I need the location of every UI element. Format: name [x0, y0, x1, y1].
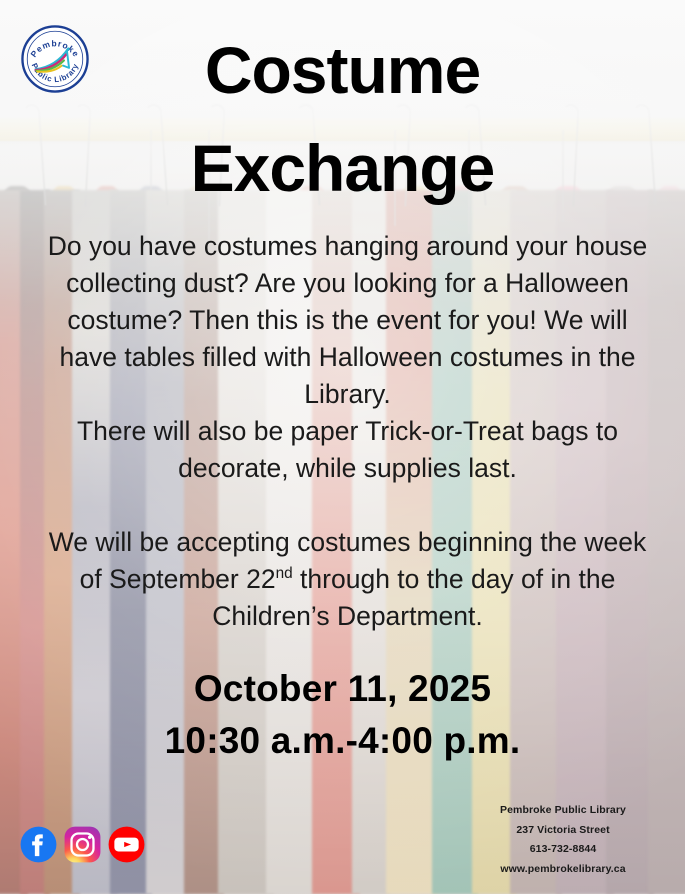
body-paragraph-2: There will also be paper Trick-or-Treat …: [38, 413, 657, 487]
facebook-icon[interactable]: [20, 826, 57, 863]
title-line-2: Exchange: [0, 120, 685, 218]
footer-address: 237 Victoria Street: [463, 821, 663, 841]
poster-body: Do you have costumes hanging around your…: [38, 228, 657, 635]
poster: Pembroke Public Library Costume Exchange: [0, 0, 685, 894]
paragraph-spacer: [38, 487, 657, 524]
footer-website[interactable]: www.pembrokelibrary.ca: [463, 860, 663, 880]
poster-title: Costume Exchange: [0, 22, 685, 217]
ordinal-suffix: nd: [276, 565, 293, 582]
footer-library-name: Pembroke Public Library: [463, 801, 663, 821]
event-datetime: October 11, 2025 10:30 a.m.-4:00 p.m.: [0, 663, 685, 767]
youtube-icon[interactable]: [108, 826, 145, 863]
footer-phone[interactable]: 613-732-8844: [463, 840, 663, 860]
social-links: [20, 826, 145, 863]
instagram-icon[interactable]: [64, 826, 101, 863]
footer-contact: Pembroke Public Library 237 Victoria Str…: [463, 801, 663, 879]
event-time: 10:30 a.m.-4:00 p.m.: [0, 715, 685, 767]
body-paragraph-1: Do you have costumes hanging around your…: [38, 228, 657, 413]
title-line-1: Costume: [0, 22, 685, 120]
event-date: October 11, 2025: [0, 663, 685, 715]
body-paragraph-3: We will be accepting costumes beginning …: [38, 524, 657, 635]
